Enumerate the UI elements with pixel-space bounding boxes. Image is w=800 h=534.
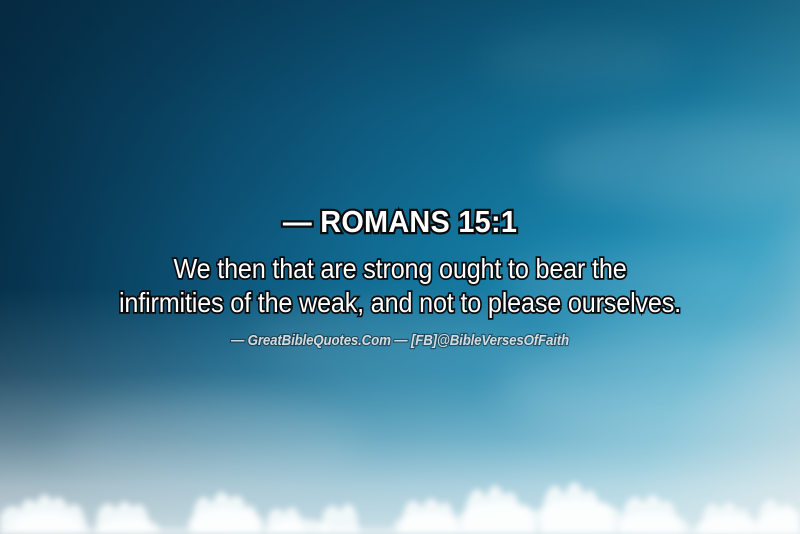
cloud-wisp [60,400,360,490]
verse-image: — ROMANS 15:1 We then that are strong ou… [0,0,800,534]
attribution-credit: — GreatBibleQuotes.Com — [FB]@BibleVerse… [41,333,759,349]
verse-quote-line-2: infirmities of the weak, and not to plea… [49,287,751,319]
cloud-wisp [480,30,680,90]
verse-text-block: — ROMANS 15:1 We then that are strong ou… [0,205,800,349]
verse-quote-line-1: We then that are strong ought to bear th… [49,253,751,285]
verse-quote: We then that are strong ought to bear th… [49,253,751,319]
blossom-cluster [0,404,800,534]
verse-reference: — ROMANS 15:1 [37,205,762,239]
cloud-wisp [540,120,800,210]
